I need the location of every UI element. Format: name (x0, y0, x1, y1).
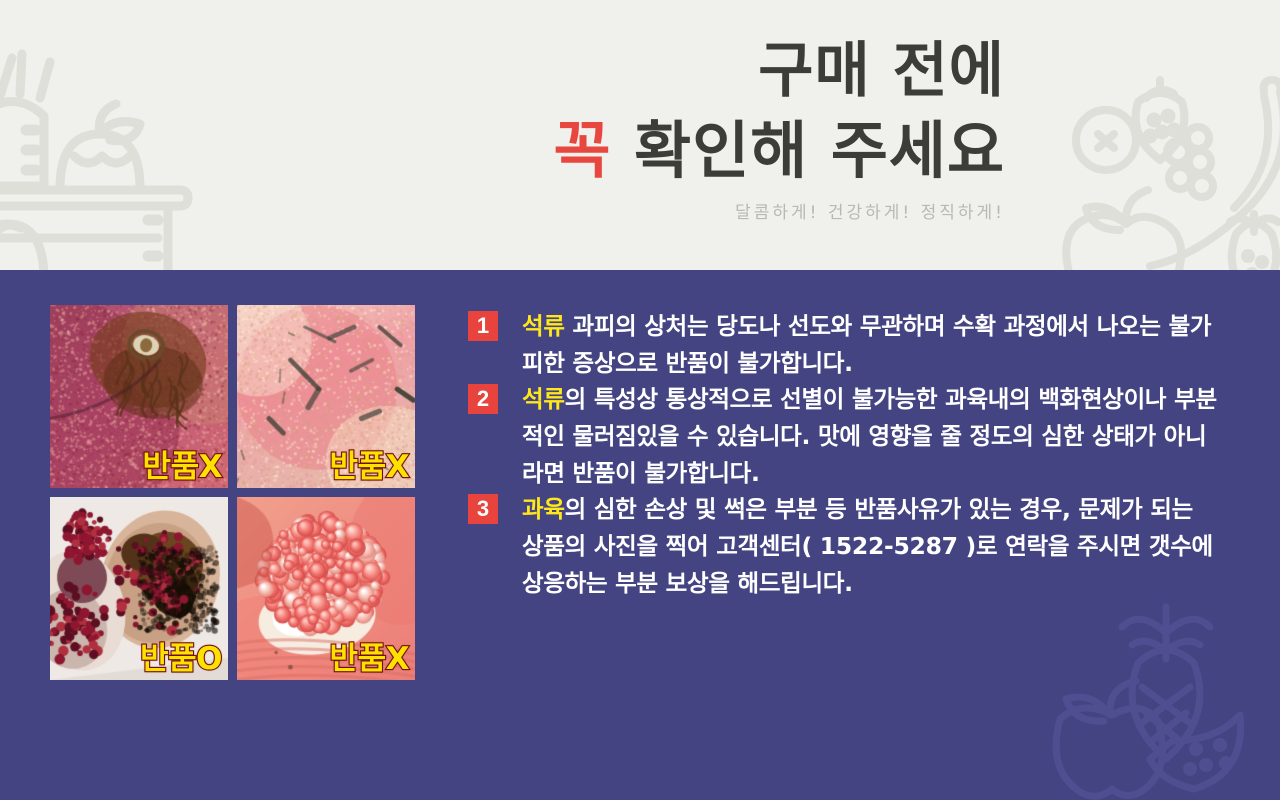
photo-tile-1[interactable]: 반품X (50, 305, 228, 488)
notice-body: 과피의 상처는 당도나 선도와 무관하며 수확 과정에서 나오는 불가피한 증상… (522, 312, 1211, 377)
notice-list: 1 석류 과피의 상처는 당도나 선도와 무관하며 수확 과정에서 나오는 불가… (468, 300, 1228, 601)
example-photo-grid: 반품X 반품X 반품O 반품X (50, 305, 433, 685)
notice-highlight: 석류 (522, 312, 565, 340)
pineapple-apple-watermelon-outline-icon (1020, 589, 1260, 800)
notice-item-2: 2 석류의 특성상 통상적으로 선별이 불가능한 과육내의 백화현상이나 부분적… (468, 381, 1228, 491)
photo-label: 반품O (140, 642, 222, 678)
notice-number-badge: 2 (468, 384, 498, 414)
notice-highlight: 과육 (522, 495, 565, 523)
title-rest-words: 확인해 주세요 (612, 114, 1005, 187)
notice-text: 석류 과피의 상처는 당도나 선도와 무관하며 수확 과정에서 나오는 불가피한… (522, 308, 1222, 381)
photo-tile-4[interactable]: 반품X (237, 497, 415, 680)
notice-item-3: 3 과육의 심한 손상 및 썩은 부분 등 반품사유가 있는 경우, 문제가 되… (468, 491, 1228, 601)
notice-highlight: 석류 (522, 385, 565, 413)
photo-label: 반품X (143, 450, 222, 486)
photo-tile-3[interactable]: 반품O (50, 497, 228, 680)
notice-number-badge: 1 (468, 311, 498, 341)
photo-tile-2[interactable]: 반품X (237, 305, 415, 488)
page-title-line-2: 꼭 확인해 주세요 (0, 118, 1005, 183)
title-accent-word: 꼭 (554, 114, 612, 187)
notice-item-1: 1 석류 과피의 상처는 당도나 선도와 무관하며 수확 과정에서 나오는 불가… (468, 308, 1228, 381)
notice-number-badge: 3 (468, 494, 498, 524)
notice-text: 과육의 심한 손상 및 썩은 부분 등 반품사유가 있는 경우, 문제가 되는 … (522, 491, 1222, 601)
page-subtitle: 달콤하게! 건강하게! 정직하게! (0, 198, 1005, 223)
notice-body: 의 심한 손상 및 썩은 부분 등 반품사유가 있는 경우, 문제가 되는 상품… (522, 495, 1213, 596)
product-notice-banner: 구매 전에 꼭 확인해 주세요 달콤하게! 건강하게! 정직하게! (0, 0, 1280, 800)
title-block: 구매 전에 꼭 확인해 주세요 달콤하게! 건강하게! 정직하게! (0, 0, 1280, 270)
photo-label: 반품X (330, 450, 409, 486)
notice-text: 석류의 특성상 통상적으로 선별이 불가능한 과육내의 백화현상이나 부분적인 … (522, 381, 1222, 491)
notice-body: 의 특성상 통상적으로 선별이 불가능한 과육내의 백화현상이나 부분적인 물러… (522, 385, 1217, 486)
banner-header: 구매 전에 꼭 확인해 주세요 달콤하게! 건강하게! 정직하게! (0, 0, 1280, 270)
photo-label: 반품X (330, 642, 409, 678)
page-title-line-1: 구매 전에 (0, 40, 1005, 103)
